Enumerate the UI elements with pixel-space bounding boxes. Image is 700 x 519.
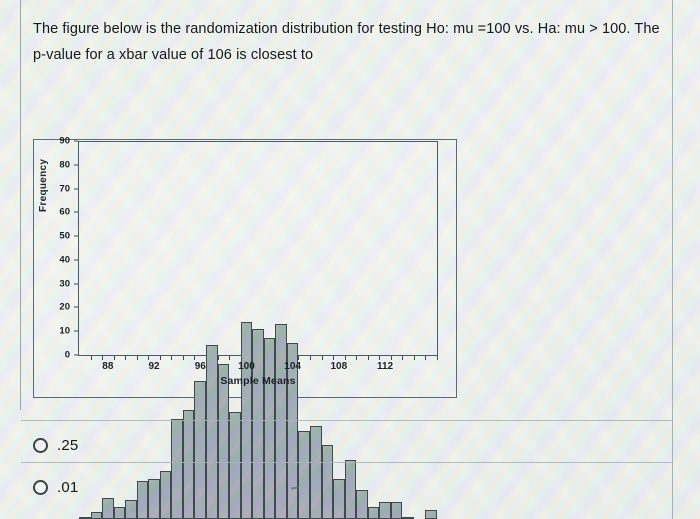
option-row-0[interactable]: .25	[33, 437, 78, 454]
option-label-0: .25	[57, 437, 78, 454]
x-tick-mark	[391, 356, 392, 360]
option-divider-bottom	[21, 462, 672, 463]
x-tick-mark	[437, 356, 438, 360]
histogram-bar	[322, 445, 334, 519]
x-tick-label: 88	[88, 361, 128, 372]
x-tick-label: 108	[319, 361, 359, 372]
x-tick-mark	[183, 356, 184, 360]
x-tick-label: 96	[180, 361, 220, 372]
x-tick-mark	[379, 356, 380, 360]
radio-button-0[interactable]	[33, 438, 48, 453]
histogram-bar	[252, 329, 264, 519]
histogram-bar	[379, 502, 391, 519]
x-tick-mark	[333, 356, 334, 360]
histogram-bar	[345, 460, 357, 519]
x-tick-mark	[414, 356, 415, 360]
y-tick-label: 20	[36, 302, 70, 313]
histogram-bar	[183, 410, 195, 519]
histogram-bar	[356, 490, 368, 519]
x-tick-mark	[241, 356, 242, 360]
x-tick-mark	[137, 356, 138, 360]
y-tick-label: 70	[36, 183, 70, 194]
x-tick-label: 104	[273, 361, 313, 372]
x-tick-mark	[148, 356, 149, 360]
histogram-bar	[425, 510, 437, 519]
y-tick-label: 90	[36, 136, 70, 147]
x-tick-mark	[402, 356, 403, 360]
histogram-bar	[218, 364, 230, 519]
x-tick-mark	[368, 356, 369, 360]
histogram-bar	[102, 498, 114, 519]
option-divider-top	[21, 420, 672, 421]
y-tick-label: 0	[36, 350, 70, 361]
x-tick-mark	[310, 356, 311, 360]
histogram-bar	[137, 481, 149, 519]
histogram-bar	[310, 426, 322, 519]
histogram-bar	[275, 324, 287, 519]
histogram-bars	[79, 305, 437, 519]
x-tick-mark	[264, 356, 265, 360]
histogram-bar	[368, 507, 380, 519]
x-tick-mark	[102, 356, 103, 360]
x-tick-mark	[275, 356, 276, 360]
y-tick-label: 10	[36, 326, 70, 337]
option-row-1[interactable]: .01	[33, 479, 78, 496]
histogram-bar	[333, 479, 345, 519]
histogram-bar	[391, 502, 403, 519]
x-tick-mark	[194, 356, 195, 360]
histogram-bar	[298, 431, 310, 519]
x-tick-mark	[206, 356, 207, 360]
histogram-bar	[148, 479, 160, 519]
x-axis-label: Sample Means	[78, 375, 438, 387]
x-tick-label: 112	[365, 361, 405, 372]
histogram-bar	[194, 381, 206, 519]
x-tick-mark	[229, 356, 230, 360]
x-tick-label: 100	[226, 361, 266, 372]
histogram-bar	[229, 412, 241, 519]
page-left-rule	[20, 0, 21, 410]
histogram-bar	[91, 512, 103, 519]
x-tick-mark	[171, 356, 172, 360]
x-tick-label: 92	[134, 361, 174, 372]
histogram-bar	[160, 471, 172, 519]
x-tick-mark	[160, 356, 161, 360]
x-tick-mark	[298, 356, 299, 360]
radio-button-1[interactable]	[33, 480, 48, 495]
x-tick-mark	[287, 356, 288, 360]
x-tick-mark	[322, 356, 323, 360]
y-tick-label: 30	[36, 278, 70, 289]
x-tick-mark	[114, 356, 115, 360]
histogram-bar	[114, 507, 126, 519]
y-tick-label: 50	[36, 231, 70, 242]
x-tick-mark	[345, 356, 346, 360]
y-tick-label: 40	[36, 254, 70, 265]
y-tick-label: 80	[36, 159, 70, 170]
option-label-1: .01	[57, 479, 78, 496]
x-tick-mark	[218, 356, 219, 360]
y-tick-label: 60	[36, 207, 70, 218]
x-tick-mark	[425, 356, 426, 360]
page-right-rule	[672, 0, 673, 519]
x-tick-mark	[91, 356, 92, 360]
x-tick-mark	[125, 356, 126, 360]
x-tick-mark	[356, 356, 357, 360]
question-text: The figure below is the randomization di…	[33, 16, 663, 68]
histogram-bar	[125, 500, 137, 519]
x-tick-mark	[252, 356, 253, 360]
histogram-bar	[171, 419, 183, 519]
